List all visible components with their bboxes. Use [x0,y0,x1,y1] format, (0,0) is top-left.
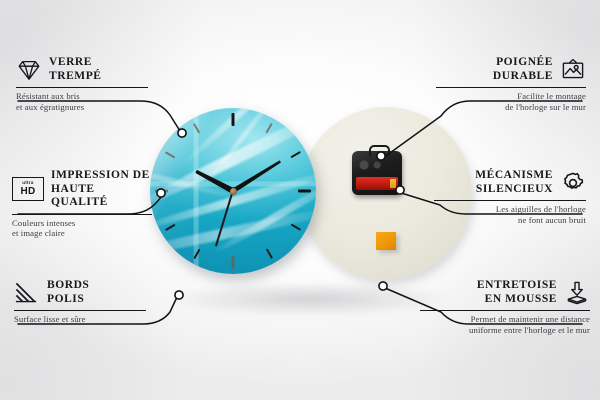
foam-spacer [376,232,396,250]
callout-description: Permet de maintenir une distance uniform… [420,314,590,335]
callout-description: Les aiguilles de l'horloge ne font aucun… [434,204,586,225]
callout-divider [14,310,146,311]
clock-mechanism [352,151,402,195]
callout-title: BORDS POLIS [47,279,89,306]
feature-callout-verre-trempe[interactable]: VERRE TREMPÉ Résistant aux bris et aux é… [16,56,148,112]
picture-hanger-icon [560,57,586,83]
callout-divider [420,310,590,311]
callout-divider [434,200,586,201]
callout-description: Couleurs intenses et image claire [12,218,152,239]
callout-divider [12,214,152,215]
callout-title: VERRE TREMPÉ [49,56,102,83]
clock-hands [150,108,316,274]
feature-callout-bords-polis[interactable]: BORDS POLIS Surface lisse et sûre [14,279,146,325]
callout-description: Facilite le montage de l'horloge sur le … [436,91,586,112]
diamond-icon [16,57,42,83]
battery [356,177,398,190]
callout-description: Résistant aux bris et aux égratignures [16,91,148,112]
feature-callout-mecanisme-silencieux[interactable]: MÉCANISME SILENCIEUX Les aiguilles de l'… [434,169,586,225]
hands-center-cap [230,188,237,195]
feature-callout-entretoise-en-mousse[interactable]: ENTRETOISE EN MOUSSE Permet de maintenir… [420,279,590,335]
callout-divider [436,87,586,88]
callout-title: IMPRESSION DE HAUTE QUALITÉ [51,169,152,210]
badge-hd-label: HD [20,187,35,197]
infographic-canvas: VERRE TREMPÉ Résistant aux bris et aux é… [0,0,600,400]
callout-divider [16,87,148,88]
callout-title: ENTRETOISE EN MOUSSE [477,279,557,306]
ultra-hd-badge-icon: ultra HD [12,177,44,201]
callout-title: POIGNÉE DURABLE [493,56,553,83]
clock-front-view [150,108,316,274]
feature-callout-impression-haute-qualite[interactable]: ultra HD IMPRESSION DE HAUTE QUALITÉ Cou… [12,169,152,239]
feature-callout-poignee-durable[interactable]: POIGNÉE DURABLE Facilite le montage de l… [436,56,586,112]
foam-spacer-icon [564,280,590,306]
polished-edges-icon [14,280,40,306]
callout-title: MÉCANISME SILENCIEUX [475,169,553,196]
gear-icon [560,170,586,196]
callout-description: Surface lisse et sûre [14,314,146,325]
mechanism-dials [357,158,385,172]
